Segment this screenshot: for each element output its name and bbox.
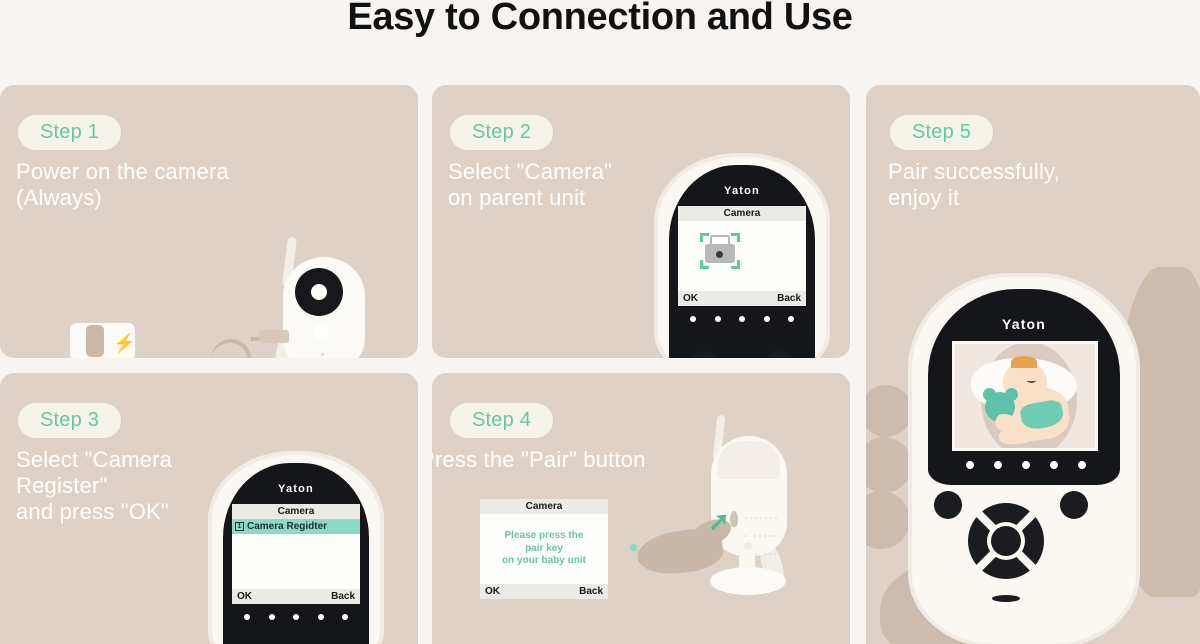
device-brand-label: Yaton — [654, 185, 830, 197]
screen-footer-2: OK Back — [678, 291, 806, 306]
teddy-bear-ear-right — [1005, 388, 1018, 401]
device-keypad-dots-2 — [690, 316, 794, 322]
baby-unit-top-panel — [718, 441, 780, 479]
lightning-bolt-icon: ⚡ — [113, 334, 135, 352]
device-screen-4: Camera Please press the pair key on your… — [480, 499, 608, 599]
adapter-connector — [259, 330, 289, 343]
softkey-back-4[interactable]: Back — [579, 586, 603, 597]
camera-lens-center — [311, 284, 327, 300]
step-description-5: Pair successfully, enjoy it — [888, 159, 1178, 211]
softkey-back-3[interactable]: Back — [331, 591, 355, 602]
infographic-page: Easy to Connection and Use Step 1 Power … — [0, 0, 1200, 644]
softkey-ok-4[interactable]: OK — [485, 586, 500, 597]
device-screen-5 — [952, 341, 1098, 451]
step-description-2: Select "Camera" on parent unit — [448, 159, 688, 211]
screen-message-4: Please press the pair key on your baby u… — [502, 530, 586, 568]
baby-hair — [1011, 356, 1037, 368]
device-brand-label: Yaton — [208, 483, 384, 495]
baby-unit-indicator — [744, 542, 752, 550]
step-badge-4: Step 4 — [450, 403, 553, 438]
menu-item-number: 1 — [235, 522, 244, 531]
screen-footer-4: OK Back — [480, 584, 608, 599]
teddy-bear-ear-left — [983, 388, 996, 401]
step-badge-1: Step 1 — [18, 115, 121, 150]
step-badge-2: Step 2 — [450, 115, 553, 150]
screen-body-2 — [678, 221, 806, 291]
dpad-navigation[interactable] — [968, 503, 1044, 579]
device-keypad-dots-5 — [966, 461, 1086, 469]
device-button-left-5[interactable] — [934, 491, 962, 519]
dpad-ok-button[interactable] — [991, 526, 1021, 556]
camera-icon-lens — [716, 251, 723, 258]
softkey-ok-3[interactable]: OK — [237, 591, 252, 602]
press-arrow-icon: ➚ — [708, 508, 730, 534]
camera-icon[interactable] — [700, 233, 740, 269]
device-speaker-slot-5 — [992, 595, 1020, 602]
device-button-right-5[interactable] — [1060, 491, 1088, 519]
selection-bracket-bottom-right-icon — [731, 260, 740, 269]
baby-unit-base — [710, 567, 786, 595]
camera-led-indicators — [321, 353, 324, 358]
screen-title-4: Camera — [480, 499, 608, 514]
softkey-back-2[interactable]: Back — [777, 293, 801, 304]
parent-unit-device-3: Yaton Camera 1 Camera Regidter OK Back — [208, 451, 384, 644]
step-panel-3: Step 3 Select "Camera Register" and pres… — [0, 373, 418, 644]
device-screen-2: Camera OK Back — [678, 206, 806, 306]
step-panel-2: Step 2 Select "Camera" on parent unit Ya… — [432, 85, 850, 358]
step-description-1: Power on the camera (Always) — [16, 159, 296, 211]
step-panel-4: Step 4 Press the "Pair" button Camera Pl… — [432, 373, 850, 644]
adapter-pin — [86, 325, 104, 357]
screen-title-2: Camera — [678, 206, 806, 221]
selection-bracket-top-right-icon — [731, 233, 740, 242]
device-keypad-dots-3 — [244, 614, 348, 620]
softkey-ok-2[interactable]: OK — [683, 293, 698, 304]
camera-sensor — [313, 324, 329, 340]
page-title: Easy to Connection and Use — [0, 0, 1200, 39]
holding-finger-1 — [866, 385, 912, 437]
menu-item-label: Camera Regidter — [247, 521, 327, 532]
step-panel-1: Step 1 Power on the camera (Always) ⚡ — [0, 85, 418, 358]
selection-bracket-bottom-left-icon — [700, 260, 709, 269]
screen-body-3: 1 Camera Regidter — [232, 519, 360, 589]
screen-body-4: Please press the pair key on your baby u… — [480, 514, 608, 584]
menu-item-camera-register[interactable]: 1 Camera Regidter — [232, 519, 360, 534]
step-panel-5: Step 5 Pair successfully, enjoy it Yaton — [866, 85, 1200, 644]
parent-unit-device-5: Yaton — [908, 273, 1140, 644]
adapter-wire-curve — [211, 339, 251, 358]
step-badge-3: Step 3 — [18, 403, 121, 438]
device-brand-label: Yaton — [908, 316, 1140, 332]
baby-eye — [1027, 378, 1036, 383]
holding-finger-2 — [866, 437, 912, 493]
parent-unit-device-2: Yaton Camera OK Back — [654, 153, 830, 358]
screen-title-3: Camera — [232, 504, 360, 519]
device-screen-3: Camera 1 Camera Regidter OK Back — [232, 504, 360, 604]
baby-unit-speaker-grille — [743, 507, 781, 533]
selection-bracket-top-left-icon — [700, 233, 709, 242]
step-badge-5: Step 5 — [890, 115, 993, 150]
step-description-3: Select "Camera Register" and press "OK" — [16, 447, 231, 525]
pair-key-button[interactable] — [730, 511, 738, 527]
holding-finger-3 — [866, 491, 910, 549]
screen-footer-3: OK Back — [232, 589, 360, 604]
